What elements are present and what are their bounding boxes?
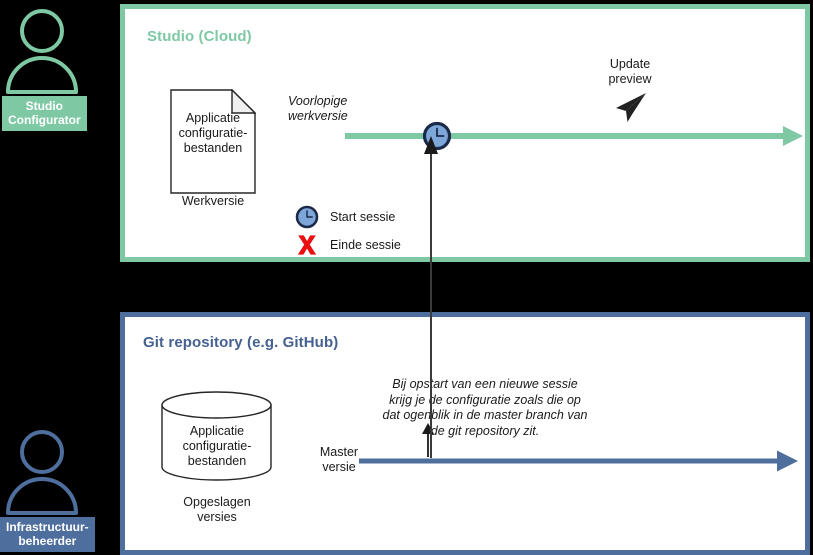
- document-caption: Werkversie: [158, 194, 268, 209]
- cross-icon: [295, 233, 319, 257]
- studio-timeline-arrow: [345, 121, 805, 151]
- panel-studio-title: Studio (Cloud): [147, 28, 252, 45]
- actor-infrastructuur-beheerder-label: Infrastructuur-beheerder: [0, 517, 95, 552]
- legend-label-start-sessie: Start sessie: [330, 210, 395, 224]
- panel-git-repository: Git repository (e.g. GitHub) Applicatie …: [120, 312, 810, 555]
- panel-git-title: Git repository (e.g. GitHub): [143, 334, 338, 351]
- actor-infrastructuur-beheerder: Infrastructuur-beheerder: [0, 425, 120, 552]
- actor-studio-configurator: StudioConfigurator: [0, 4, 120, 131]
- panel-studio-cloud: Studio (Cloud) Applicatie configuratie- …: [120, 4, 810, 262]
- session-start-connector: [420, 128, 442, 458]
- database-caption: Opgeslagen versies: [157, 495, 277, 525]
- legend-label-einde-sessie: Einde sessie: [330, 238, 401, 252]
- studio-timeline-label: Voorlopige werkversie: [288, 94, 428, 124]
- person-icon: [0, 4, 120, 96]
- diagram-canvas: StudioConfigurator Infrastructuur-beheer…: [0, 0, 813, 555]
- legend-item-start-sessie: Start sessie: [295, 205, 395, 229]
- person-icon: [0, 425, 120, 517]
- update-preview-label: Update preview: [580, 57, 680, 87]
- clock-icon: [295, 205, 319, 229]
- database-label: Applicatie configuratie- bestanden: [157, 424, 277, 469]
- paper-plane-icon: [613, 91, 649, 125]
- document-label: Applicatie configuratie- bestanden: [160, 111, 266, 156]
- git-annotation: Bij opstart van een nieuwe sessie krijg …: [285, 377, 685, 439]
- actor-studio-configurator-label: StudioConfigurator: [2, 96, 87, 131]
- legend-item-einde-sessie: Einde sessie: [295, 233, 401, 257]
